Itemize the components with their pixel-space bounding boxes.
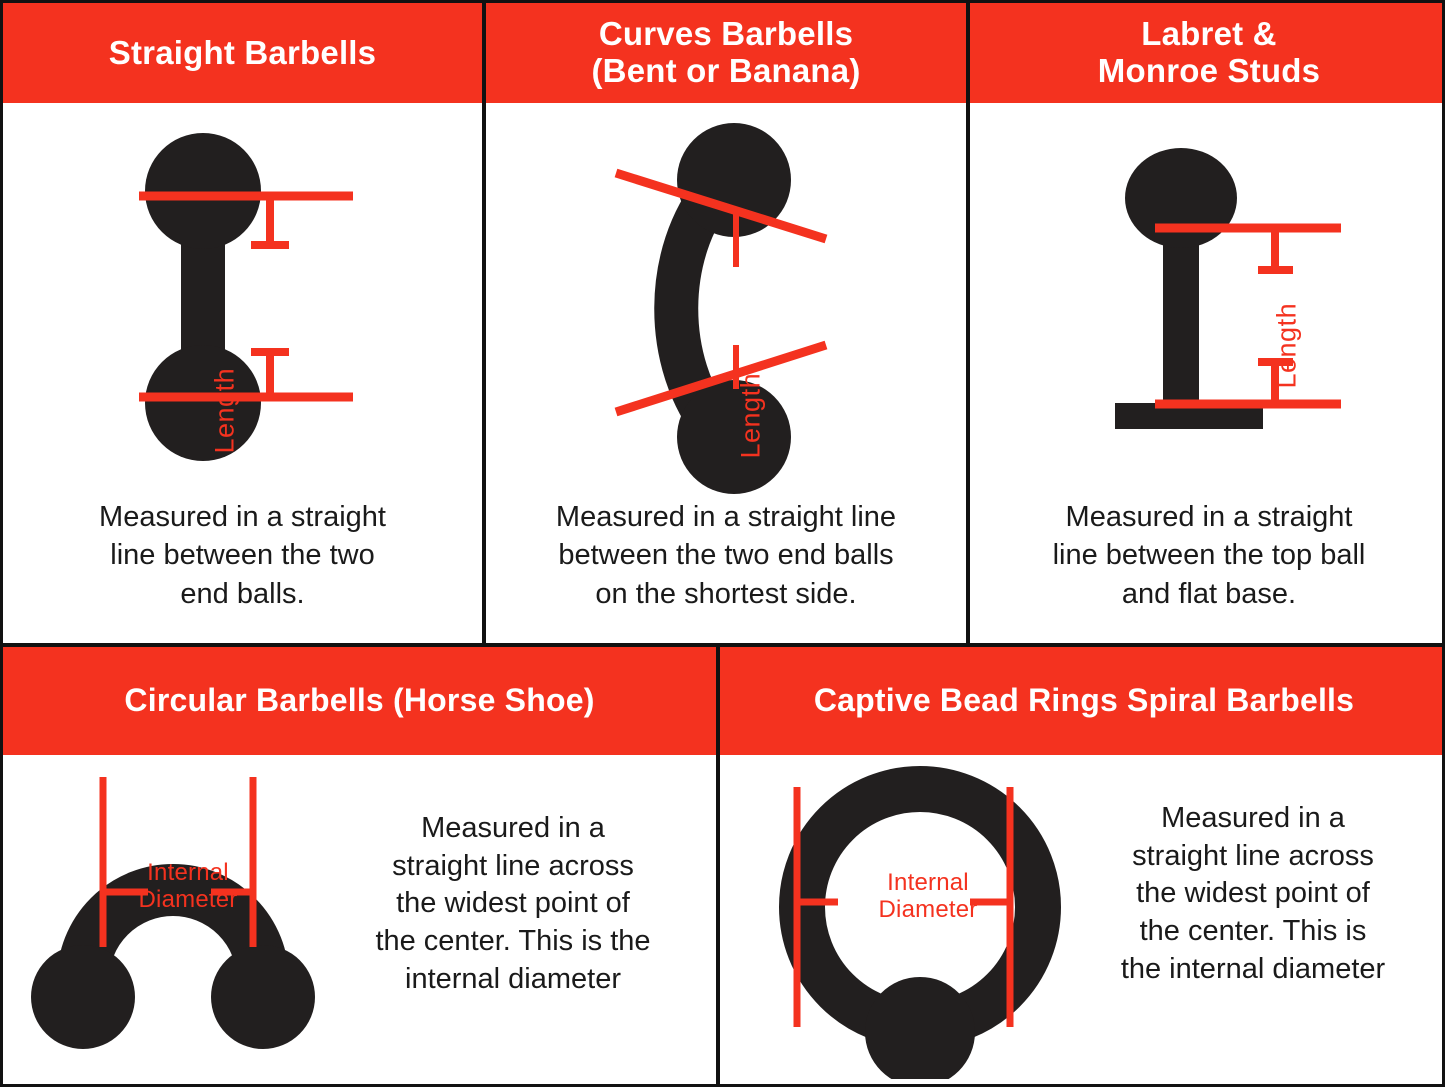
panel-straight-barbells-header: Straight Barbells [3, 3, 482, 103]
labret-post-shape [1163, 226, 1199, 411]
length-label: Length [1272, 279, 1303, 389]
panel-labret-studs-header: Labret & Monroe Studs [970, 3, 1445, 103]
panel-captive-bead-rings-header: Captive Bead Rings Spiral Barbells [720, 647, 1445, 755]
straight-barbell-diagram [103, 113, 423, 493]
barbell-bottom-ball-shape [145, 345, 261, 461]
horseshoe-left-ball-shape [31, 945, 135, 1049]
panel-captive-bead-rings-caption: Measured in a straight line across the w… [1078, 800, 1428, 988]
panel-circular-barbells-body: Internal Diameter Measured in a straight… [3, 755, 716, 1087]
internal-diameter-label: Internal Diameter [128, 860, 248, 914]
captive-bead-shape [865, 977, 975, 1079]
panel-curved-barbells-header: Curves Barbells (Bent or Banana) [486, 3, 966, 103]
curved-barbell-bottom-ball-shape [677, 380, 791, 494]
labret-top-ball-shape [1125, 148, 1237, 248]
panel-straight-barbells: Straight Barbells [3, 3, 482, 643]
horseshoe-right-ball-shape [211, 945, 315, 1049]
curved-barbell-diagram [604, 117, 934, 502]
length-label: Length [210, 344, 241, 454]
panel-curved-barbells-body: Length Measured in a straight line betwe… [486, 103, 966, 643]
internal-diameter-label: Internal Diameter [863, 870, 993, 924]
panel-labret-studs: Labret & Monroe Studs [966, 3, 1445, 643]
length-label: Length [736, 349, 767, 459]
panel-labret-studs-body: Length Measured in a straight line betwe… [970, 103, 1445, 643]
panel-captive-bead-rings: Captive Bead Rings Spiral Barbells Inter… [716, 647, 1445, 1087]
horseshoe-diagram [23, 765, 333, 1065]
panel-straight-barbells-body: Length Measured in a straight line betwe… [3, 103, 482, 643]
panel-curved-barbells-caption: Measured in a straight line between the … [504, 498, 948, 613]
top-row: Straight Barbells [3, 3, 1442, 643]
panel-captive-bead-rings-body: Internal Diameter Measured in a straight… [720, 755, 1445, 1087]
measurement-guide-infographic: Straight Barbells [0, 0, 1445, 1087]
panel-circular-barbells: Circular Barbells (Horse Shoe) Internal … [3, 647, 716, 1087]
panel-curved-barbells: Curves Barbells (Bent or Banana) [482, 3, 966, 643]
bottom-row: Circular Barbells (Horse Shoe) Internal … [3, 643, 1442, 1087]
panel-circular-barbells-header: Circular Barbells (Horse Shoe) [3, 647, 716, 755]
panel-straight-barbells-caption: Measured in a straight line between the … [31, 498, 454, 613]
barbell-top-ball-shape [145, 133, 261, 249]
panel-circular-barbells-caption: Measured in a straight line across the w… [333, 810, 693, 998]
panel-labret-studs-caption: Measured in a straight line between the … [990, 498, 1428, 613]
